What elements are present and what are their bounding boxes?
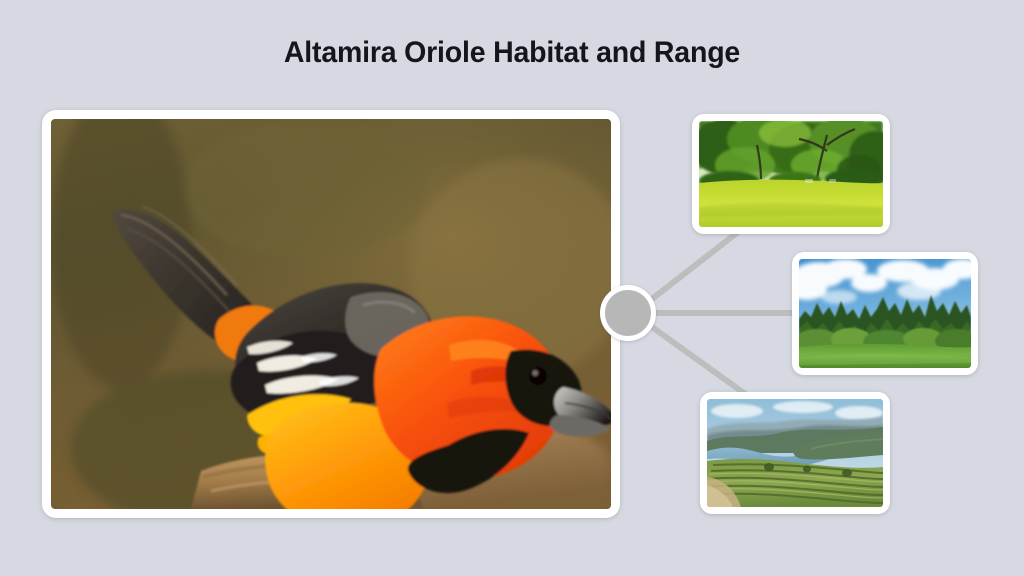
thumbnail-forest-meadow	[799, 259, 971, 368]
slide-canvas: Altamira Oriole Habitat and Range	[0, 0, 1024, 576]
altamira-oriole-photo	[51, 119, 611, 509]
main-photo-card[interactable]	[42, 110, 620, 518]
page-title: Altamira Oriole Habitat and Range	[26, 36, 999, 70]
thumbnail-forest-meadow-card[interactable]	[792, 252, 978, 375]
thumbnail-river-vineyard-card[interactable]	[700, 392, 890, 514]
thumbnail-park-meadow-card[interactable]	[692, 114, 890, 234]
connector-node[interactable]	[600, 285, 656, 341]
connector-line-to-valley	[652, 327, 748, 396]
connector-line-to-park	[652, 232, 738, 299]
thumbnail-river-vineyard	[707, 399, 883, 507]
thumbnail-park-meadow	[699, 121, 883, 227]
